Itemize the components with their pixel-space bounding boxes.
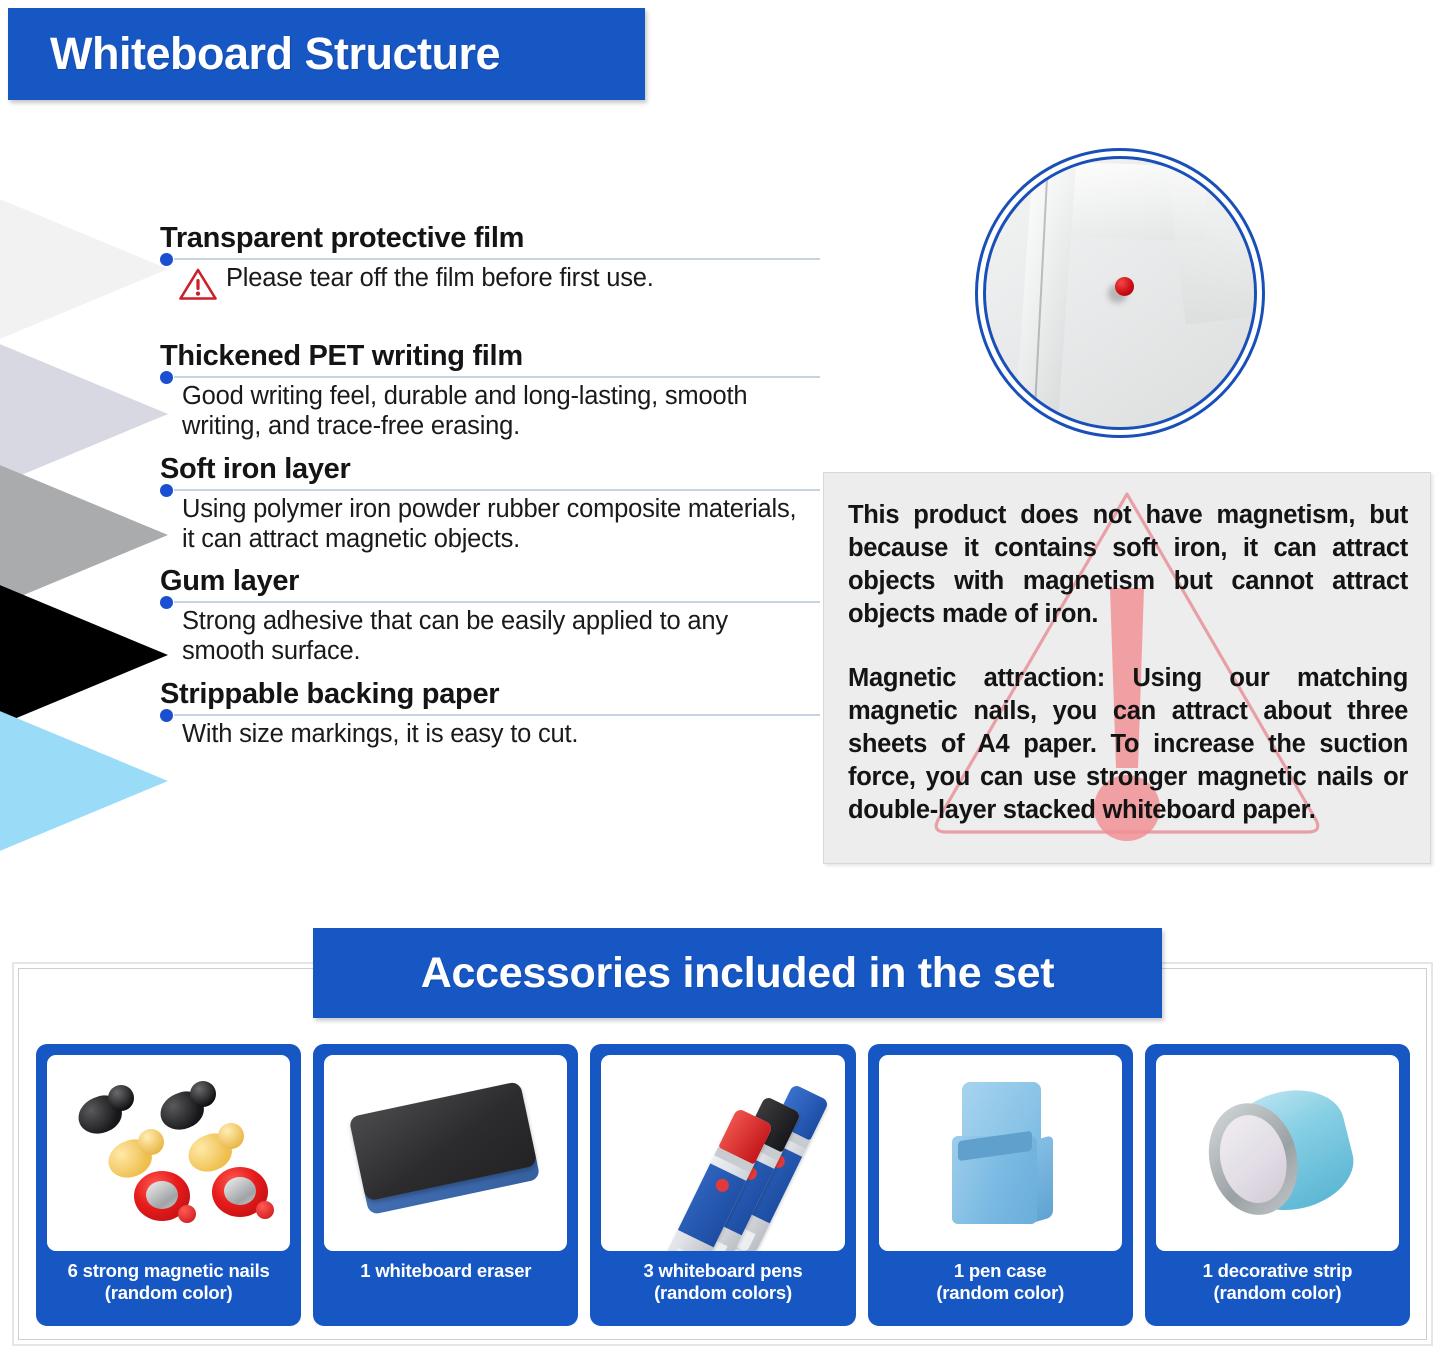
layer-wedge-3 [0,461,168,609]
accessories-title: Accessories included in the set [421,949,1055,998]
layer-title: Strippable backing paper [160,678,820,711]
film-sheet-edge-right [1163,156,1257,325]
layer-marker-dot [160,371,173,384]
accessory-caption: 1 pen case (random color) [879,1251,1122,1304]
page-title-banner: Whiteboard Structure [8,8,645,100]
layer-marker-dot [160,484,173,497]
accessory-caption-line1: 1 decorative strip [1203,1260,1353,1281]
layer-item-gum-layer: Gum layer Strong adhesive that can be ea… [160,565,820,666]
nail-red-2 [212,1167,268,1217]
layer-item-strippable-backing-paper: Strippable backing paper With size marki… [160,678,820,750]
accessory-card-whiteboard-eraser[interactable]: 1 whiteboard eraser [313,1044,578,1326]
layer-wedge-2 [0,340,168,488]
layer-divider [174,601,820,603]
accessory-caption-line1: 1 pen case [954,1260,1047,1281]
layer-description: Using polymer iron powder rubber composi… [160,495,808,554]
product-photo [983,156,1257,430]
accessory-caption: 1 decorative strip (random color) [1156,1251,1399,1304]
accessory-caption-line2: (random color) [105,1282,233,1303]
layer-marker-dot [160,596,173,609]
accessory-image-whiteboard-pens [601,1055,844,1251]
magnetism-info-box: This product does not have magnetism, bu… [823,472,1431,864]
nail-red-1 [134,1171,190,1221]
accessory-image-magnetic-nails [47,1055,290,1251]
accessory-caption: 3 whiteboard pens (random colors) [601,1251,844,1304]
accessories-card-list: 6 strong magnetic nails (random color) 1… [36,1044,1410,1326]
layer-description: Please tear off the film before first us… [226,264,654,294]
accessories-banner: Accessories included in the set [313,928,1162,1018]
info-text-block: This product does not have magnetism, bu… [824,473,1430,827]
layer-title: Transparent protective film [160,222,820,255]
accessory-caption-line2: (random colors) [654,1282,792,1303]
whiteboard-eraser-icon [349,1081,543,1225]
layer-divider [174,714,820,716]
layer-divider [174,258,820,260]
accessory-caption-line2: (random color) [936,1282,1064,1303]
accessory-card-magnetic-nails[interactable]: 6 strong magnetic nails (random color) [36,1044,301,1326]
accessory-card-pen-case[interactable]: 1 pen case (random color) [868,1044,1133,1326]
accessory-caption: 1 whiteboard eraser [324,1251,567,1282]
accessory-caption-line1: 6 strong magnetic nails [68,1260,270,1281]
red-magnetic-pin-icon [1115,277,1134,296]
layer-wedge-1 [0,195,168,343]
info-paragraph-magnetism: This product does not have magnetism, bu… [848,499,1408,632]
layer-wedge-5 [0,707,168,855]
accessory-card-decorative-strip[interactable]: 1 decorative strip (random color) [1145,1044,1410,1326]
layer-description: With size markings, it is easy to cut. [160,720,820,750]
layer-item-thickened-pet-writing-film: Thickened PET writing film Good writing … [160,340,820,441]
accessory-caption: 6 strong magnetic nails (random color) [47,1251,290,1304]
whiteboard-pens-icon [650,1071,801,1236]
layer-wedge-4 [0,581,168,729]
accessory-caption-line1: 1 whiteboard eraser [360,1260,531,1281]
accessory-image-pen-case [879,1055,1122,1251]
layer-label-list: Transparent protective film Please tear … [160,222,820,750]
layer-description: Strong adhesive that can be easily appli… [160,607,780,666]
layer-marker-dot [160,709,173,722]
product-photo-circle [975,148,1265,438]
layer-stack-diagram [0,195,175,835]
layer-title: Soft iron layer [160,453,820,486]
accessory-card-whiteboard-pens[interactable]: 3 whiteboard pens (random colors) [590,1044,855,1326]
layer-description: Good writing feel, durable and long-last… [160,382,775,441]
pen-case-icon [952,1082,1054,1223]
accessory-image-whiteboard-eraser [324,1055,567,1251]
info-paragraph-magnetic-attraction: Magnetic attraction: Using our matching … [848,662,1408,828]
layer-title: Thickened PET writing film [160,340,820,373]
accessory-caption-line2: (random color) [1214,1282,1342,1303]
layer-divider [174,489,820,491]
layer-title: Gum layer [160,565,820,598]
warning-triangle-icon [178,267,218,306]
layer-item-transparent-protective-film: Transparent protective film Please tear … [160,222,820,306]
decorative-strip-icon [1197,1079,1362,1227]
layer-item-soft-iron-layer: Soft iron layer Using polymer iron powde… [160,453,820,554]
layer-divider [174,376,820,378]
accessory-image-decorative-strip [1156,1055,1399,1251]
magnetic-nails-icon [76,1079,271,1232]
page-title: Whiteboard Structure [8,28,500,80]
infographic-page: Whiteboard Structure Transparent protect… [0,0,1445,1358]
accessory-caption-line1: 3 whiteboard pens [643,1260,802,1281]
layer-marker-dot [160,253,173,266]
